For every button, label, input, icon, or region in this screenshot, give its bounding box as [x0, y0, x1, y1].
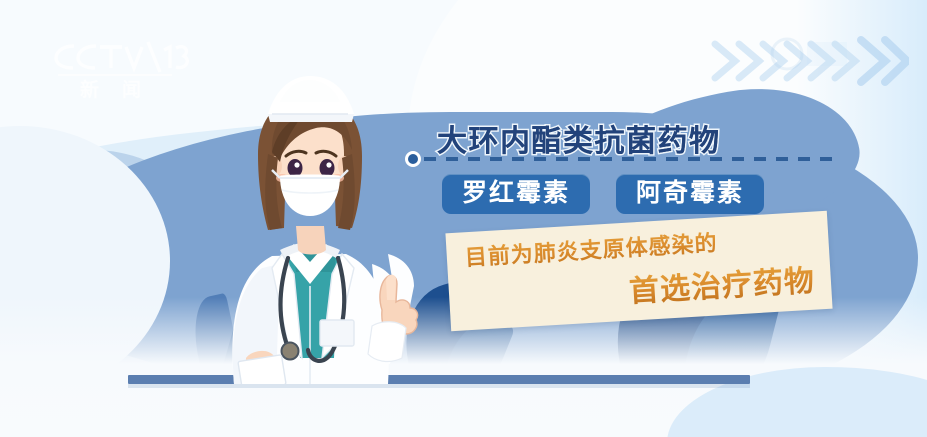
svg-text:新: 新: [80, 78, 99, 100]
cctv13-logo-watermark: 新 闻: [52, 34, 192, 100]
drug-pill-group: 罗红霉素 阿奇霉素: [442, 174, 764, 214]
bullet-dot-inner: [408, 154, 418, 164]
broadcast-graphic: 新 闻 大环内酯类抗菌药物 大环内酯类抗菌药物 罗红霉素 阿奇霉素: [0, 0, 927, 437]
dashed-line: [424, 157, 835, 161]
drug-pill-roxithromycin[interactable]: 罗红霉素: [442, 174, 590, 214]
nurse-illustration: [176, 58, 442, 384]
svg-text:闻: 闻: [122, 78, 141, 100]
drug-pill-azithromycin[interactable]: 阿奇霉素: [616, 174, 764, 214]
dashed-connector: [405, 151, 835, 167]
secondary-watermark-icon: [763, 34, 853, 74]
desk-bar-shadow: [128, 384, 750, 388]
